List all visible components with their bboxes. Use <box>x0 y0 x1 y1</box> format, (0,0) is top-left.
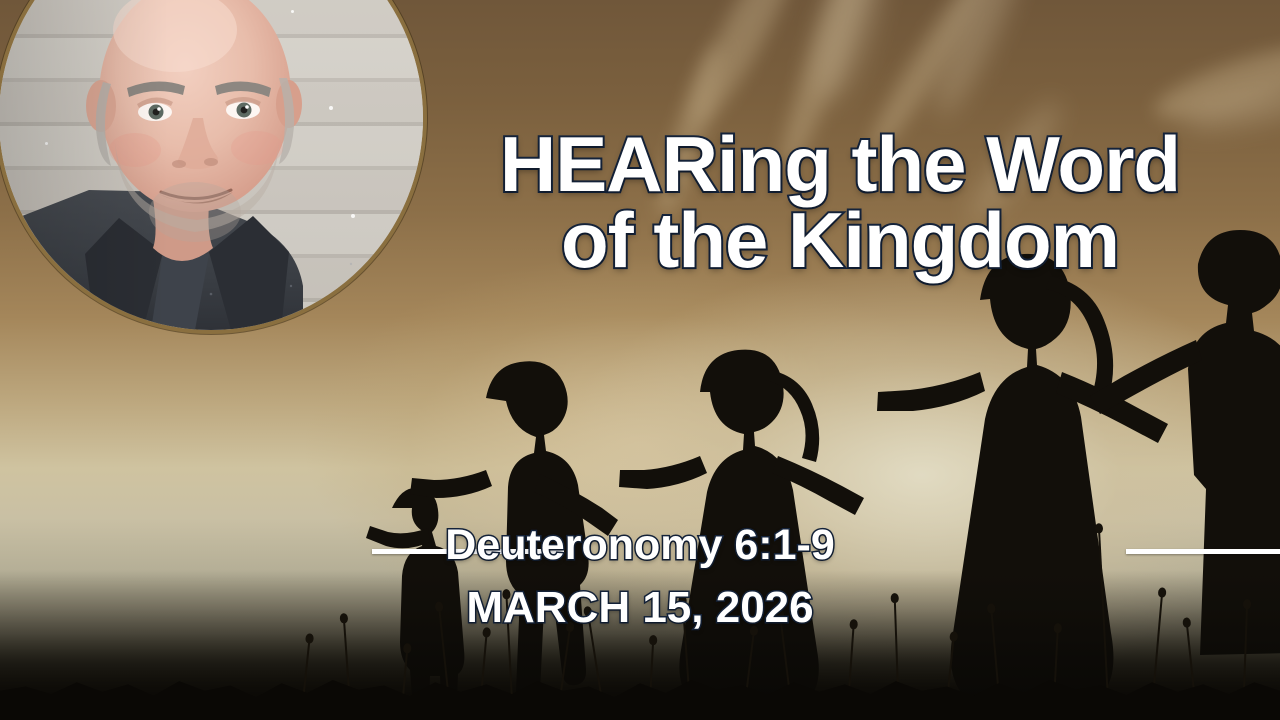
meadow-foreground <box>0 570 1280 720</box>
speaker-figure <box>0 0 423 330</box>
sermon-title-slide: HEARing the Word of the Kingdom Deuteron… <box>0 0 1280 720</box>
speaker-portrait-circle <box>0 0 427 334</box>
